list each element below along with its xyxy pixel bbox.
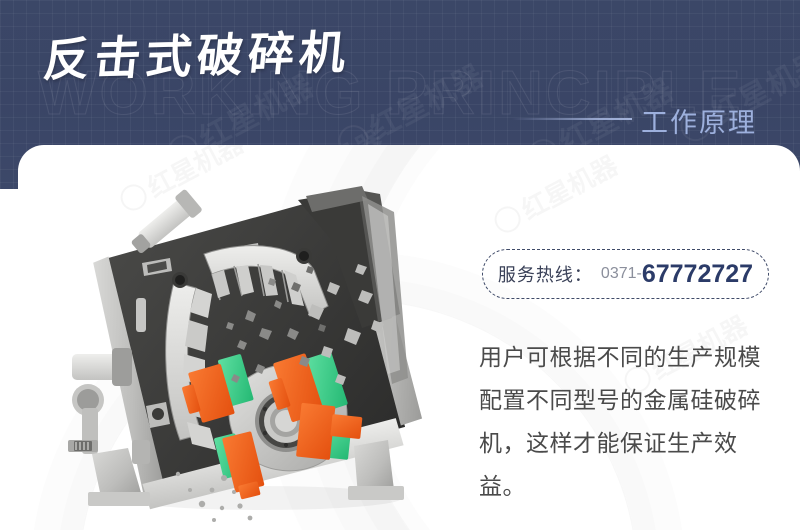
hotline-number: 67772727 (642, 260, 753, 289)
brand-ring-icon (490, 202, 525, 237)
brand-watermark-text: 红星机器 (364, 59, 489, 146)
description-paragraph: 用户可根据不同的生产规模配置不同型号的金属硅破碎机，这样才能保证生产效益。 (479, 336, 779, 508)
promo-banner: WORKING PRINCIPLE 红星机器 红星机器 红星机器 红星机器 红星… (0, 0, 800, 530)
page-title: 反击式破碎机 (41, 29, 352, 83)
hotline-label: 服务热线： (498, 261, 593, 287)
hotline-badge[interactable]: 服务热线： 0371- 67772727 (482, 249, 769, 299)
impact-crusher-illustration (62, 178, 462, 523)
subtitle: 工作原理 (641, 101, 757, 140)
brand-watermark: 红星机器 (487, 146, 623, 242)
hotline-area-code: 0371- (601, 265, 642, 283)
subtitle-rule (512, 118, 632, 120)
brand-watermark-text: 红星机器 (517, 150, 623, 225)
